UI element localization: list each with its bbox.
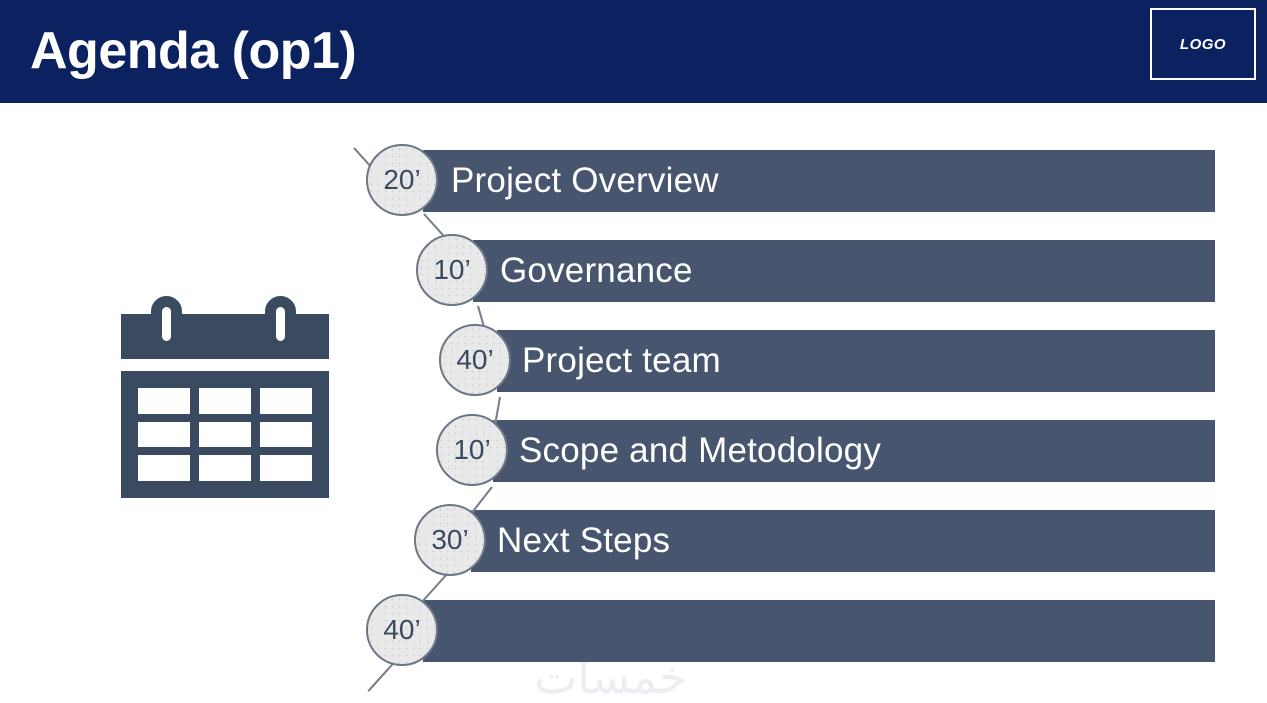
agenda-item-label: Scope and Metodology [519, 420, 881, 482]
agenda-list: 20’ Project Overview 10’ Governance 40’ … [0, 0, 1267, 703]
agenda-duration-badge[interactable]: 30’ [414, 504, 486, 576]
agenda-duration-badge[interactable]: 40’ [366, 594, 438, 666]
agenda-item-label: Project team [522, 330, 721, 392]
agenda-duration-badge[interactable]: 40’ [439, 324, 511, 396]
calendar-ring-right-icon [265, 296, 296, 352]
agenda-item-label: Project Overview [451, 150, 719, 212]
agenda-duration-badge[interactable]: 20’ [366, 144, 438, 216]
agenda-item-label: Next Steps [497, 510, 670, 572]
agenda-duration-badge[interactable]: 10’ [436, 414, 508, 486]
slide: Agenda (op1) LOGO [0, 0, 1267, 703]
calendar-ring-left-icon [151, 296, 182, 352]
agenda-bar[interactable] [423, 600, 1215, 662]
agenda-item-label: Governance [500, 240, 693, 302]
agenda-duration-badge[interactable]: 10’ [416, 234, 488, 306]
